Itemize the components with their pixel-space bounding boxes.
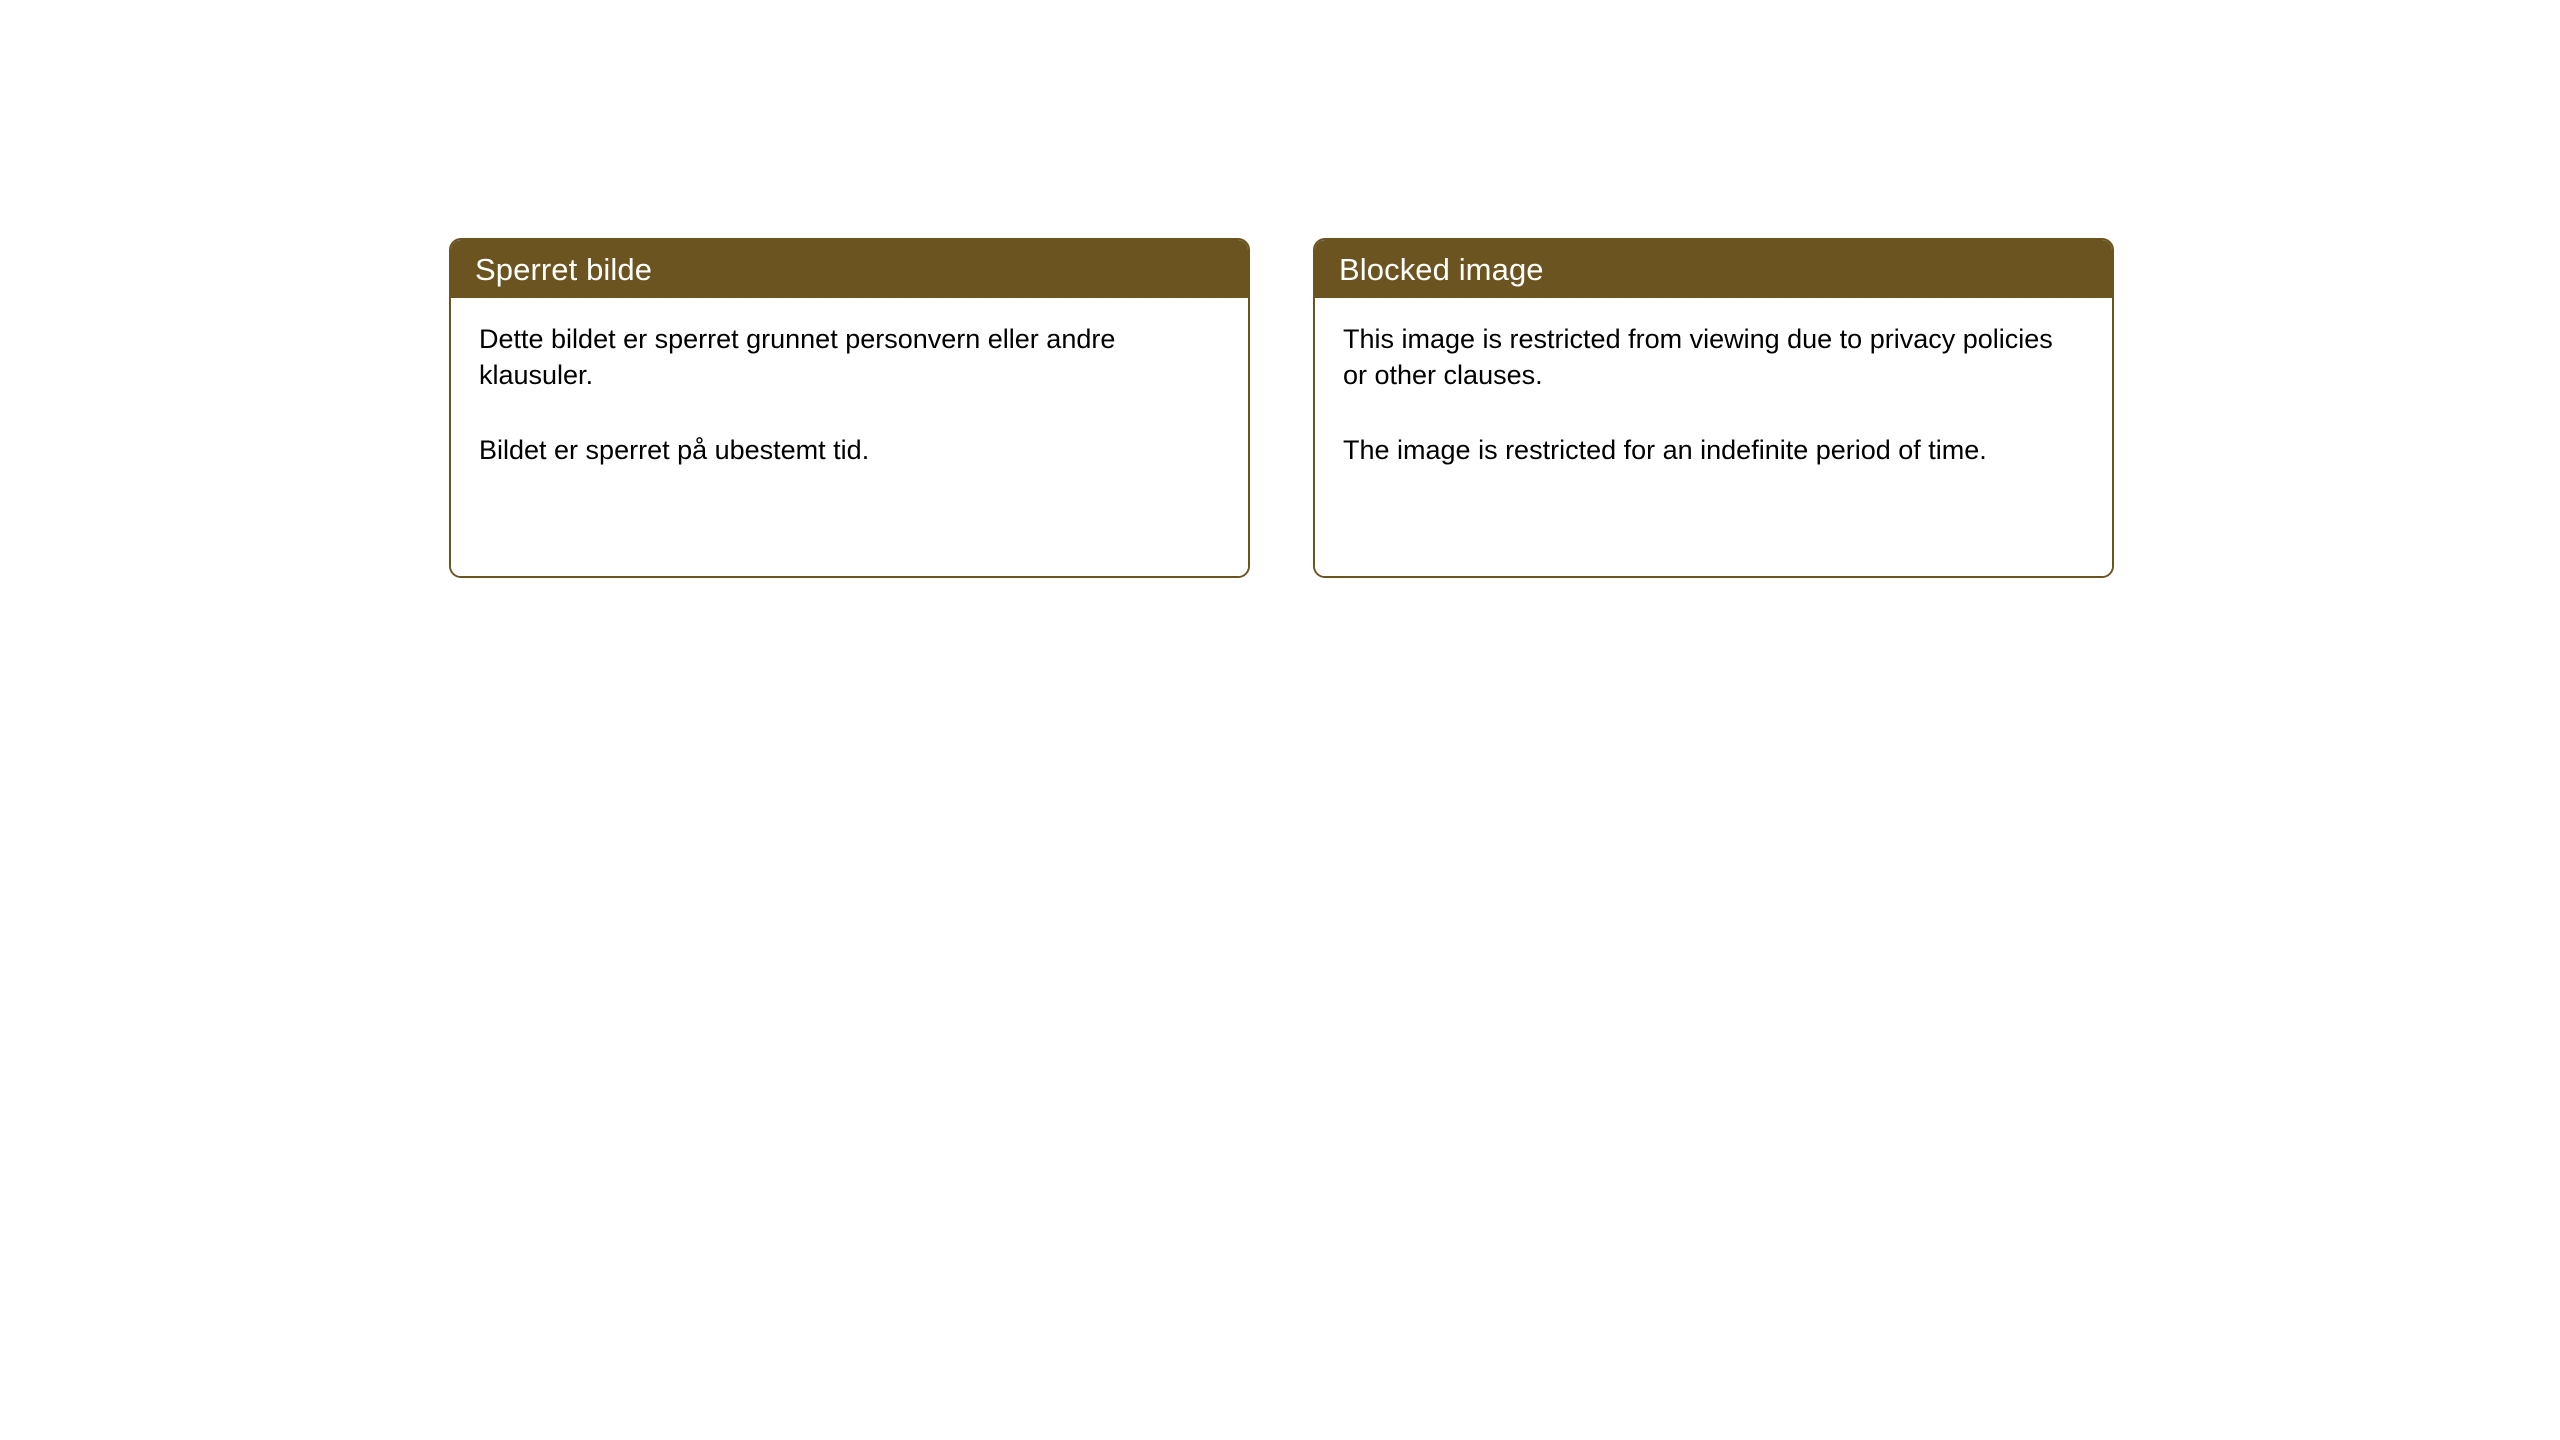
notice-card-body: This image is restricted from viewing du… <box>1315 298 2112 576</box>
blocked-image-notice-card-norwegian: Sperret bilde Dette bildet er sperret gr… <box>449 238 1250 578</box>
blocked-image-notice-group: Sperret bilde Dette bildet er sperret gr… <box>449 238 2114 578</box>
notice-paragraph-duration: The image is restricted for an indefinit… <box>1343 433 2063 469</box>
notice-card-header: Sperret bilde <box>451 240 1248 298</box>
notice-card-header: Blocked image <box>1315 240 2112 298</box>
notice-card-title: Blocked image <box>1339 254 1544 285</box>
notice-card-body: Dette bildet er sperret grunnet personve… <box>451 298 1248 576</box>
notice-card-title: Sperret bilde <box>475 254 652 285</box>
blocked-image-notice-card-english: Blocked image This image is restricted f… <box>1313 238 2114 578</box>
notice-paragraph-duration: Bildet er sperret på ubestemt tid. <box>479 433 1199 469</box>
notice-paragraph-reason: Dette bildet er sperret grunnet personve… <box>479 322 1199 394</box>
notice-paragraph-reason: This image is restricted from viewing du… <box>1343 322 2063 394</box>
